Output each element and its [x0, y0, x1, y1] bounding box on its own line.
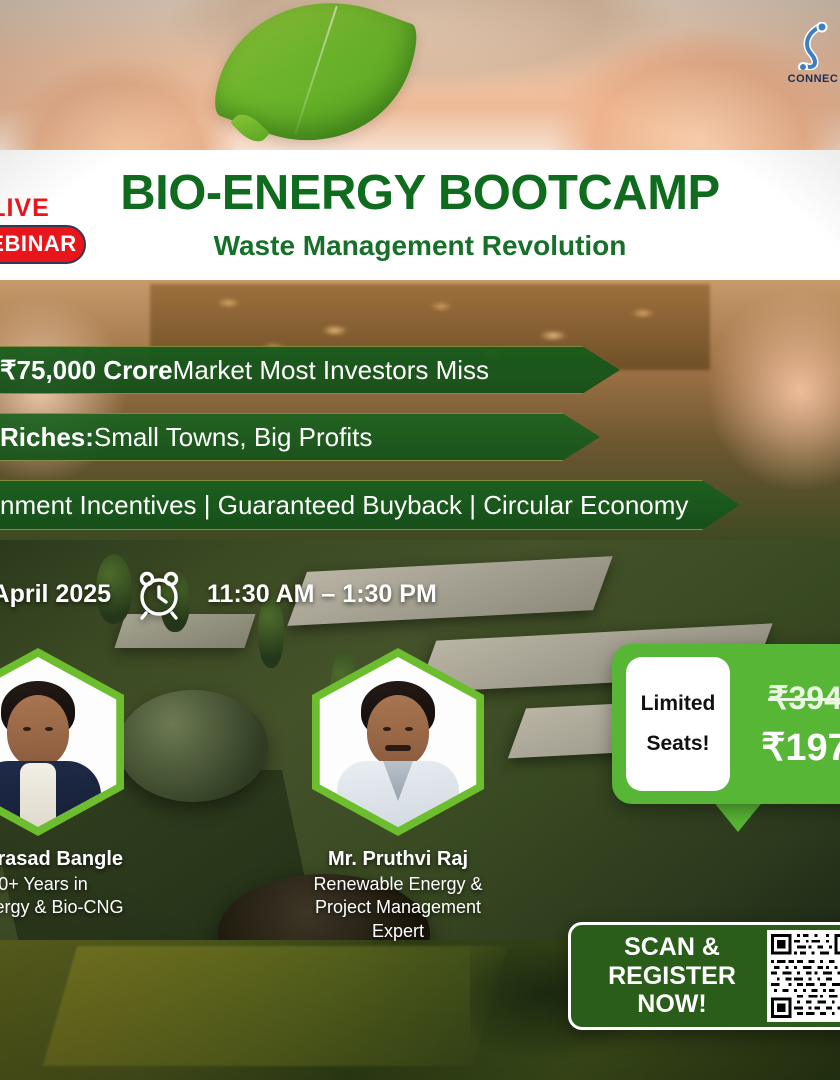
highlight-rest: Market Most Investors Miss [173, 355, 489, 386]
alarm-clock-icon [133, 568, 185, 620]
price-bubble-tail [712, 800, 764, 832]
leaf-vein [294, 6, 337, 134]
limited-seats-line2: Seats! [646, 732, 709, 756]
pricing-bubble: Limited Seats! ₹394 ₹197 [612, 644, 840, 804]
speaker-photo-frame [298, 648, 498, 836]
page-title: BIO-ENERGY BOOTCAMP [120, 169, 719, 218]
qr-code-icon[interactable] [767, 930, 840, 1022]
limited-seats-card: Limited Seats! [626, 657, 730, 791]
avatar-head [7, 695, 69, 767]
speaker-name: uruprasad Bangle [0, 848, 138, 871]
original-price: ₹394 [768, 679, 840, 717]
event-date: 4th April 2025 [0, 580, 111, 609]
avatar-head [367, 695, 429, 767]
highlight-strong: ₹75,000 Crore [0, 355, 173, 386]
speaker-role-line1: Renewable Energy & [298, 873, 498, 896]
avatar-eye [383, 727, 391, 731]
webinar-pill-label: WEBINAR [0, 225, 86, 264]
schedule-row: 4th April 2025 11:30 AM – 1:30 PM [0, 568, 468, 620]
cta-line1: SCAN & [577, 933, 767, 962]
highlight-strong: Riches: [0, 422, 94, 453]
highlight-ribbon-3: nment Incentives | Guaranteed Buyback | … [0, 480, 740, 530]
digester-tank [118, 690, 268, 802]
background-hands-leaf-image [0, 0, 840, 150]
speaker-role-line2: io-Energy & Bio-CNG [0, 896, 138, 919]
avatar-eye [405, 727, 413, 731]
speaker-role-line1: 20+ Years in [0, 873, 138, 896]
speaker-card-1: uruprasad Bangle 20+ Years in io-Energy … [0, 648, 138, 920]
price-column: ₹394 ₹197 [730, 679, 840, 770]
cta-line2: REGISTER NOW! [577, 962, 767, 1020]
highlight-rest: Small Towns, Big Profits [94, 422, 372, 453]
speaker-photo-frame [0, 648, 138, 836]
avatar-moustache [385, 745, 411, 751]
connect-logo-icon [772, 22, 840, 70]
live-label: LIVE [0, 196, 86, 221]
brand-logo[interactable]: CONNEC [772, 22, 840, 85]
cta-label: SCAN & REGISTER NOW! [571, 933, 767, 1019]
limited-seats-line1: Limited [641, 692, 716, 716]
avatar-shirt [20, 763, 56, 827]
speaker-role-line2: Project Management Expert [298, 896, 498, 943]
speaker-photo-avatar [0, 657, 129, 827]
field-patch [43, 946, 507, 1066]
current-price: ₹197 [761, 725, 840, 770]
highlight-ribbon-2: Riches: Small Towns, Big Profits [0, 413, 600, 461]
page-subtitle: Waste Management Revolution [214, 230, 627, 262]
avatar-eye [45, 727, 53, 731]
speaker-photo-avatar [307, 657, 489, 827]
avatar-eye [23, 727, 31, 731]
speaker-name: Mr. Pruthvi Raj [298, 848, 498, 871]
live-webinar-badge: LIVE WEBINAR [0, 196, 86, 264]
highlight-rest: nment Incentives | Guaranteed Buyback | … [0, 490, 688, 521]
title-block: BIO-ENERGY BOOTCAMP Waste Management Rev… [0, 150, 840, 280]
scan-register-button[interactable]: SCAN & REGISTER NOW! [568, 922, 840, 1030]
highlight-ribbon-1: ₹75,000 Crore Market Most Investors Miss [0, 346, 620, 394]
webinar-poster: CONNEC BIO-ENERGY BOOTCAMP Waste Managem… [0, 0, 840, 1080]
speaker-card-2: Mr. Pruthvi Raj Renewable Energy & Proje… [298, 648, 498, 943]
event-time: 11:30 AM – 1:30 PM [207, 580, 437, 609]
brand-logo-text: CONNEC [772, 73, 840, 85]
